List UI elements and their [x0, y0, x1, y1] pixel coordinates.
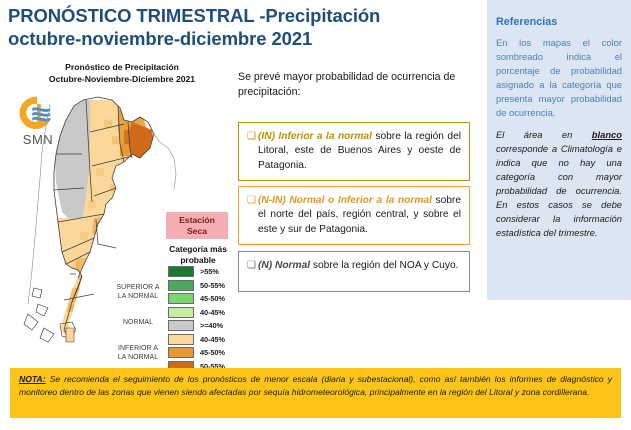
ref-p2-pre: El área en: [496, 129, 592, 140]
map-title-line2: Octubre-Noviembre-Diciembre 2021: [22, 74, 222, 86]
nota-body: Se recomienda el seguimiento de los pron…: [19, 374, 612, 397]
page-title-line2: octubre-noviembre-diciembre 2021: [8, 27, 478, 50]
legend-chip: [168, 307, 194, 318]
legend-title: Categoría más probable: [158, 244, 238, 266]
page-title-line1: PRONÓSTICO TRIMESTRAL -Precipitación: [8, 5, 380, 26]
ref-p2-post: corresponde a Climatología e indica que …: [496, 143, 622, 237]
estacion-seca-badge: Estación Seca: [166, 212, 228, 239]
legend-label: >=40%: [200, 321, 223, 330]
checkbox-icon: ❑: [245, 194, 258, 237]
legend-row: 50-55%: [168, 279, 225, 293]
estacion-seca-line1: Estación: [179, 215, 215, 226]
referencias-title: Referencias: [496, 16, 622, 28]
callout-emphasis: (N) Normal: [258, 260, 310, 271]
callout-emphasis: (IN) Inferior a la normal: [258, 131, 372, 142]
legend-chip: [168, 347, 194, 358]
estacion-seca-line2: Seca: [179, 226, 215, 237]
callout-text: (N-IN) Normal o Inferior a la normal sob…: [258, 194, 461, 237]
legend-label: 50-55%: [200, 281, 225, 290]
legend-row: >55%: [168, 265, 225, 279]
legend-category-normal: NORMAL: [110, 319, 166, 328]
nota-label: NOTA:: [19, 374, 46, 384]
referencias-paragraph-2: El área en blanco corresponde a Climatol…: [496, 128, 622, 239]
legend-row: 45-50%: [168, 292, 225, 306]
page-title: PRONÓSTICO TRIMESTRAL -Precipitación oct…: [8, 4, 478, 51]
checkbox-icon: ❑: [245, 130, 258, 173]
legend-chip: [168, 266, 194, 277]
callout-inferior-a-la-normal: ❑ (IN) Inferior a la normal sobre la reg…: [238, 122, 470, 181]
callout-normal-o-inferior: ❑ (N-IN) Normal o Inferior a la normal s…: [238, 186, 470, 245]
legend-category-below: INFERIOR A LA NORMAL: [110, 345, 166, 362]
legend-label: 40-45%: [200, 308, 225, 317]
callout-emphasis: (N-IN) Normal o Inferior a la normal: [258, 195, 432, 206]
legend-chip: [168, 280, 194, 291]
forecast-map-panel: Pronóstico de Precipitación Octubre-Novi…: [0, 62, 238, 350]
referencias-panel: Referencias En los mapas el color sombre…: [487, 0, 631, 300]
checkbox-icon: ❑: [245, 259, 258, 284]
legend-row: 40-45%: [168, 333, 225, 347]
map-title-line1: Pronóstico de Precipitación: [22, 62, 222, 74]
legend-row: 45-50%: [168, 346, 225, 360]
map-title: Pronóstico de Precipitación Octubre-Novi…: [22, 62, 222, 85]
legend-chip: [168, 334, 194, 345]
callout-normal: ❑ (N) Normal sobre la región del NOA y C…: [238, 251, 470, 292]
legend-label: 45-50%: [200, 294, 225, 303]
nota-text: NOTA: Se recomienda el seguimiento de lo…: [19, 373, 612, 399]
legend-category-above: SUPERIOR A LA NORMAL: [110, 284, 166, 301]
legend-label: >55%: [200, 267, 219, 276]
referencias-paragraph-1: En los mapas el color sombreado indica e…: [496, 36, 622, 119]
legend-chip: [168, 320, 194, 331]
legend-label: 45-50%: [200, 348, 225, 357]
callout-text: (IN) Inferior a la normal sobre la regió…: [258, 130, 461, 173]
legend-title-line1: Categoría más: [158, 244, 238, 255]
legend-label: 40-45%: [200, 335, 225, 344]
nota-bar: NOTA: Se recomienda el seguimiento de lo…: [10, 368, 621, 418]
intro-text: Se prevé mayor probabilidad de ocurrenci…: [238, 70, 470, 101]
argentina-forecast-map: [20, 92, 180, 350]
inset-box: [66, 328, 74, 342]
legend-chip: [168, 293, 194, 304]
callout-text: (N) Normal sobre la región del NOA y Cuy…: [258, 259, 461, 284]
legend-row: >=40%: [168, 319, 225, 333]
callout-rest: sobre la región del NOA y Cuyo.: [310, 260, 458, 271]
legend-row: 40-45%: [168, 306, 225, 320]
ref-p2-underlined: blanco: [592, 129, 622, 140]
